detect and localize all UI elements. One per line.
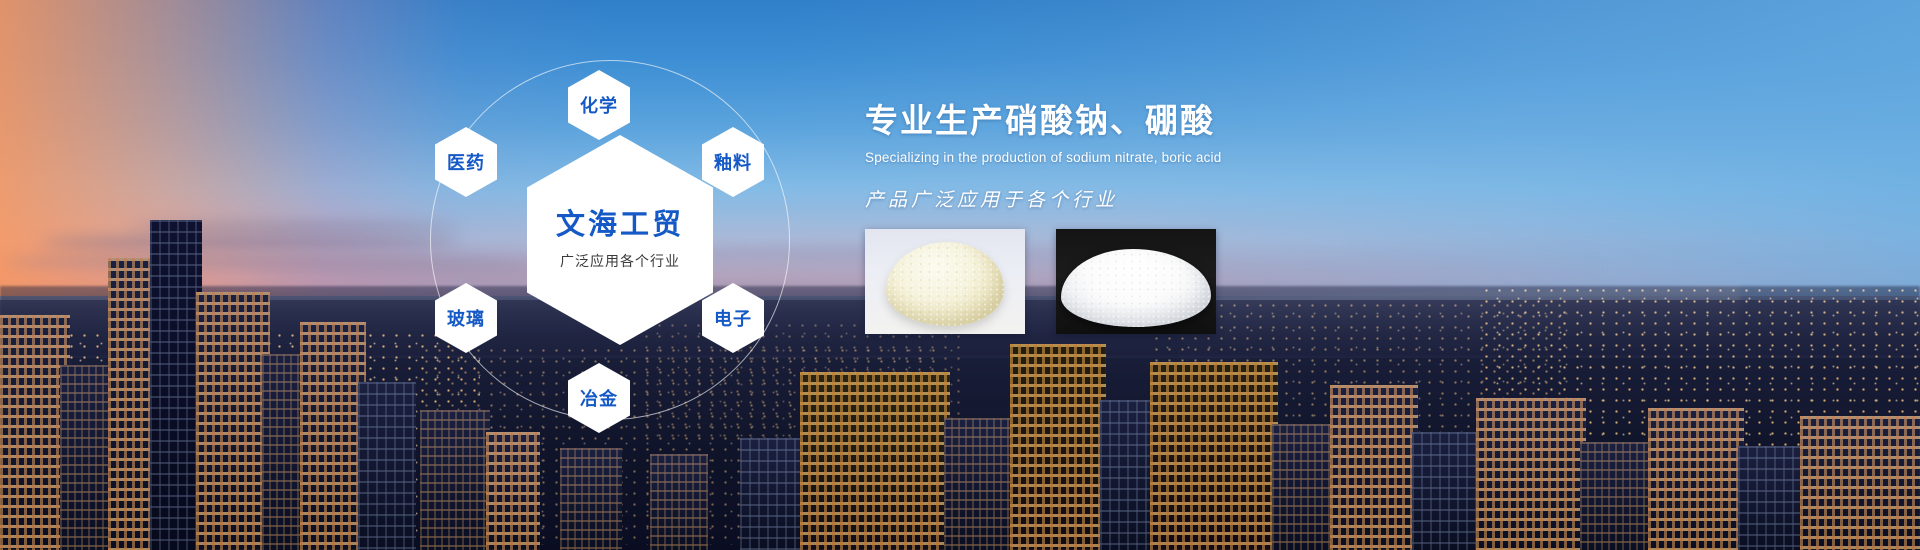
product-photo-sodium-nitrate[interactable] <box>865 229 1025 334</box>
building <box>1800 416 1920 550</box>
building <box>1738 446 1806 550</box>
building <box>944 418 1016 550</box>
powder-grain-texture <box>886 242 1004 326</box>
powder-heap <box>886 242 1004 326</box>
promo-headline: 专业生产硝酸钠、硼酸 <box>865 100 1565 141</box>
building <box>1648 408 1744 550</box>
building <box>1412 432 1482 550</box>
industry-hexagon-infographic: 文海工贸 广泛应用各个行业 化学 釉料 电子 冶金 玻璃 医药 <box>430 30 810 460</box>
promo-text-block: 专业生产硝酸钠、硼酸 Specializing in the productio… <box>865 100 1565 212</box>
hex-node-label: 冶金 <box>580 385 618 411</box>
building <box>560 448 622 550</box>
promo-subheadline: Specializing in the production of sodium… <box>865 150 1565 165</box>
product-photo-strip <box>865 229 1216 334</box>
promo-tagline: 产品广泛应用于各个行业 <box>865 185 1565 212</box>
hex-node-label: 医药 <box>447 149 485 175</box>
building <box>1272 424 1338 550</box>
hex-node-label: 釉料 <box>714 149 752 175</box>
promo-banner: 文海工贸 广泛应用各个行业 化学 釉料 电子 冶金 玻璃 医药 专业生产硝酸钠、… <box>0 0 1920 550</box>
cloud-streak <box>1350 238 1870 248</box>
building <box>60 365 114 550</box>
cloud-streak <box>40 236 460 249</box>
building-office <box>800 372 950 550</box>
building <box>300 322 366 550</box>
hex-node-label: 玻璃 <box>447 305 485 331</box>
product-photo-boric-acid[interactable] <box>1056 229 1216 334</box>
brand-tagline: 广泛应用各个行业 <box>560 251 680 271</box>
powder-heap <box>1061 249 1211 327</box>
brand-name: 文海工贸 <box>556 209 684 241</box>
building <box>358 382 416 550</box>
building <box>196 292 270 550</box>
building <box>650 454 708 550</box>
building-office <box>1150 362 1278 550</box>
building <box>1476 398 1586 550</box>
hex-node-label: 化学 <box>580 92 618 118</box>
building <box>1580 442 1654 550</box>
powder-grain-texture <box>1061 249 1211 327</box>
hex-node-label: 电子 <box>714 305 752 331</box>
building-office <box>1010 344 1106 550</box>
building <box>1330 385 1418 550</box>
building-tower <box>150 220 202 550</box>
